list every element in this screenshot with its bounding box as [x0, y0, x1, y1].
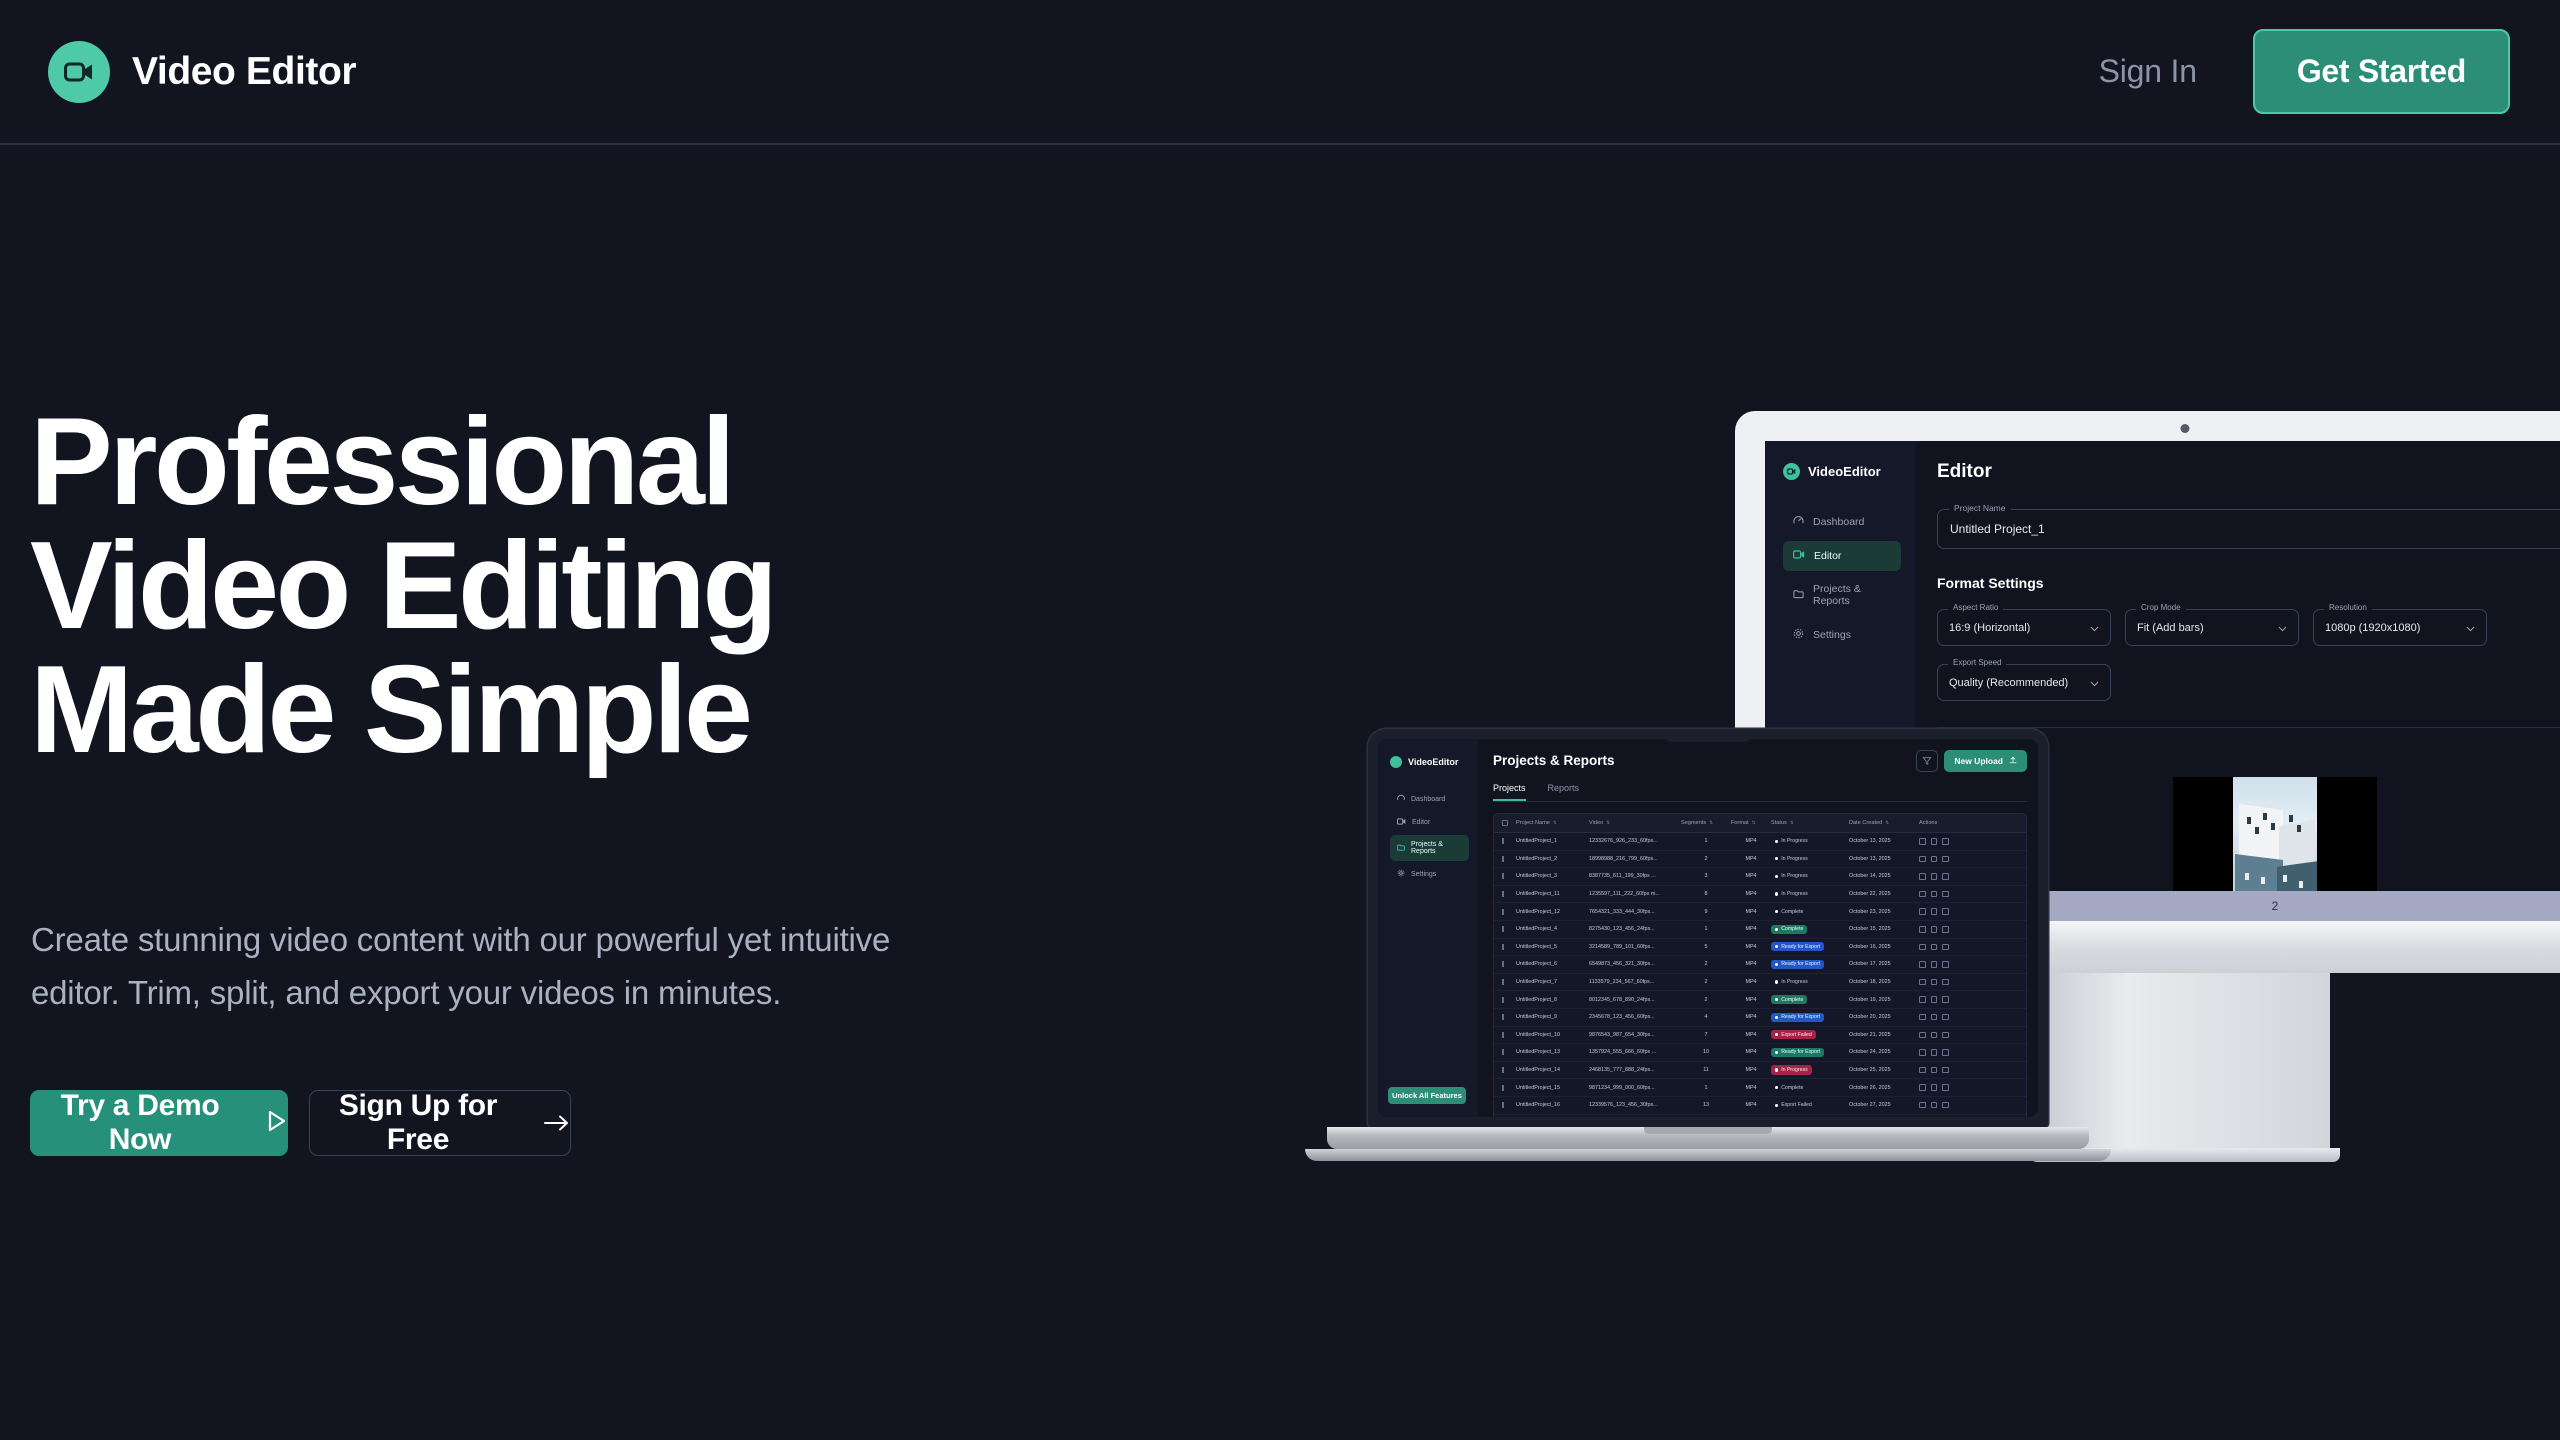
download-icon[interactable] [1931, 1084, 1938, 1091]
row-checkbox[interactable] [1494, 961, 1516, 967]
download-icon[interactable] [1931, 944, 1938, 951]
status-badge: Export Failed [1771, 1101, 1849, 1110]
sidebar-label: Dashboard [1813, 516, 1864, 528]
monitor-brand-label: VideoEditor [1808, 464, 1881, 479]
new-upload-label: New Upload [1954, 756, 2003, 766]
download-icon[interactable] [1931, 908, 1938, 915]
table-row[interactable]: UntitledProject_131357924_555_666_60fps … [1494, 1044, 2026, 1062]
try-demo-label: Try a Demo Now [31, 1089, 249, 1157]
column-segments[interactable]: Segments⇅ [1681, 820, 1731, 826]
sidebar-label: Projects & Reports [1411, 841, 1462, 855]
row-checkbox[interactable] [1494, 1032, 1516, 1038]
row-checkbox[interactable] [1494, 891, 1516, 897]
export-speed-label: Export Speed [1948, 658, 2006, 667]
project-name-label: Project Name [1949, 503, 2011, 513]
delete-icon[interactable] [1942, 891, 1949, 898]
sidebar-item-projects-reports[interactable]: Projects & Reports [1390, 835, 1469, 861]
tab-reports[interactable]: Reports [1548, 783, 1580, 801]
table-row[interactable]: UntitledProject_109876543_987_654_30fps.… [1494, 1027, 2026, 1045]
edit-icon[interactable] [1919, 1102, 1926, 1109]
status-badge: Export Failed [1771, 1030, 1849, 1039]
brand-name: Video Editor [132, 50, 356, 94]
cell-date-created: October 16, 2025 [1849, 944, 1919, 950]
table-row[interactable]: UntitledProject_38387735_611_199_30fps .… [1494, 868, 2026, 886]
laptop-toolbar: New Upload [1916, 750, 2027, 772]
cell-format: MP4 [1731, 1085, 1771, 1091]
download-icon[interactable] [1931, 1049, 1938, 1056]
delete-icon[interactable] [1942, 908, 1949, 915]
laptop-sidebar: VideoEditor Dashboard Editor [1378, 739, 1478, 1117]
cell-video: 18998988_216_799_60fps... [1589, 856, 1681, 862]
export-speed-value: Quality (Recommended) [1949, 677, 2068, 689]
edit-icon[interactable] [1919, 891, 1926, 898]
video-camera-icon [1390, 756, 1402, 768]
sidebar-label: Editor [1814, 550, 1841, 562]
table-row[interactable]: UntitledProject_48275430_123_456_24fps..… [1494, 921, 2026, 939]
cell-format: MP4 [1731, 891, 1771, 897]
cell-project-name: UntitledProject_10 [1516, 1032, 1589, 1038]
gauge-icon [1793, 515, 1804, 529]
cell-video: 9871234_999_000_60fps... [1589, 1085, 1681, 1091]
monitor-nav: Dashboard Editor Projects & Reports [1783, 506, 1915, 651]
cell-segments: 4 [1681, 1014, 1731, 1020]
sidebar-label: Settings [1813, 629, 1851, 641]
row-checkbox[interactable] [1494, 979, 1516, 985]
video-camera-icon [1783, 463, 1800, 480]
edit-icon[interactable] [1919, 873, 1926, 880]
row-checkbox[interactable] [1494, 944, 1516, 950]
row-actions [1919, 1049, 1973, 1056]
table-row[interactable]: UntitledProject_218998988_216_799_60fps.… [1494, 851, 2026, 869]
laptop-brand-label: VideoEditor [1408, 757, 1458, 767]
cell-date-created: October 13, 2025 [1849, 856, 1919, 862]
sort-icon: ⇅ [1790, 820, 1794, 826]
page-title: Professional Video Editing Made Simple [30, 400, 1130, 772]
cell-project-name: UntitledProject_3 [1516, 873, 1589, 879]
cell-project-name: UntitledProject_4 [1516, 926, 1589, 932]
row-actions [1919, 1032, 1973, 1039]
chevron-down-icon [2466, 619, 2475, 637]
column-video[interactable]: Video⇅ [1589, 820, 1681, 826]
cell-video: 2345678_123_456_60fps... [1589, 1014, 1681, 1020]
cell-date-created: October 14, 2025 [1849, 873, 1919, 879]
sidebar-item-editor[interactable]: Editor [1783, 541, 1901, 571]
row-actions [1919, 1067, 1973, 1074]
cell-project-name: UntitledProject_2 [1516, 856, 1589, 862]
cell-segments: 2 [1681, 979, 1731, 985]
folder-icon [1397, 844, 1405, 853]
select-all-checkbox[interactable] [1494, 820, 1516, 826]
laptop-base [1327, 1127, 2089, 1149]
row-checkbox[interactable] [1494, 997, 1516, 1003]
cell-date-created: October 22, 2025 [1849, 891, 1919, 897]
cell-format: MP4 [1731, 1014, 1771, 1020]
aspect-ratio-select[interactable]: Aspect Ratio 16:9 (Horizontal) [1937, 609, 2111, 646]
cell-segments: 9 [1681, 909, 1731, 915]
brand-logo-group[interactable]: Video Editor [48, 41, 356, 103]
cell-date-created: October 13, 2025 [1849, 838, 1919, 844]
cell-date-created: October 27, 2025 [1849, 1102, 1919, 1108]
laptop-lid: VideoEditor Dashboard Editor [1368, 729, 2048, 1127]
status-badge: Ready for Export [1771, 1048, 1849, 1057]
row-actions [1919, 944, 1973, 951]
cell-date-created: October 23, 2025 [1849, 909, 1919, 915]
row-checkbox[interactable] [1494, 1049, 1516, 1055]
export-speed-select[interactable]: Export Speed Quality (Recommended) [1937, 664, 2111, 701]
download-icon[interactable] [1931, 838, 1938, 845]
edit-icon[interactable] [1919, 908, 1926, 915]
cell-format: MP4 [1731, 1032, 1771, 1038]
row-checkbox[interactable] [1494, 856, 1516, 862]
table-row[interactable]: UntitledProject_112332676_926_233_60fps.… [1494, 833, 2026, 851]
cell-format: MP4 [1731, 909, 1771, 915]
sort-icon: ⇅ [1553, 820, 1557, 826]
table-row[interactable]: UntitledProject_1612339576_123_456_30fps… [1494, 1097, 2026, 1115]
sidebar-label: Settings [1411, 871, 1436, 878]
format-settings-row-1: Aspect Ratio 16:9 (Horizontal) Crop Mode… [1937, 609, 2560, 646]
cell-date-created: October 18, 2025 [1849, 979, 1919, 985]
delete-icon[interactable] [1942, 944, 1949, 951]
cell-segments: 13 [1681, 1102, 1731, 1108]
row-checkbox[interactable] [1494, 873, 1516, 879]
gear-icon [1793, 628, 1804, 642]
status-badge: Complete [1771, 1083, 1849, 1092]
sidebar-label: Projects & Reports [1813, 583, 1891, 607]
laptop-foot [1305, 1149, 2111, 1161]
cell-format: MP4 [1731, 856, 1771, 862]
delete-icon[interactable] [1942, 1014, 1949, 1021]
table-row[interactable]: UntitledProject_71133579_234_567_60fps..… [1494, 974, 2026, 992]
edit-icon[interactable] [1919, 1014, 1926, 1021]
cell-segments: 2 [1681, 997, 1731, 1003]
row-actions [1919, 961, 1973, 968]
cell-project-name: UntitledProject_13 [1516, 1049, 1589, 1055]
cell-date-created: October 21, 2025 [1849, 1032, 1919, 1038]
sidebar-label: Editor [1412, 819, 1430, 826]
cell-project-name: UntitledProject_11 [1516, 891, 1589, 897]
column-project-name[interactable]: Project Name⇅ [1516, 820, 1589, 826]
table-row[interactable]: UntitledProject_92345678_123_456_60fps..… [1494, 1009, 2026, 1027]
cell-segments: 5 [1681, 944, 1731, 950]
row-actions [1919, 873, 1973, 880]
status-badge: In Progress [1771, 1065, 1849, 1074]
download-icon[interactable] [1931, 873, 1938, 880]
delete-icon[interactable] [1942, 926, 1949, 933]
funnel-icon[interactable] [1916, 750, 1938, 772]
sign-up-free-label: Sign Up for Free [310, 1089, 526, 1157]
cell-video: 1357924_555_666_60fps ... [1589, 1049, 1681, 1055]
sort-icon: ⇅ [1709, 820, 1713, 826]
video-player-preview[interactable] [2173, 777, 2377, 897]
download-icon[interactable] [1931, 1102, 1938, 1109]
table-row[interactable]: UntitledProject_53214589_789_101_60fps..… [1494, 939, 2026, 957]
table-row[interactable]: UntitledProject_127654321_333_444_30fps.… [1494, 903, 2026, 921]
status-badge: Complete [1771, 995, 1849, 1004]
row-checkbox[interactable] [1494, 926, 1516, 932]
delete-icon[interactable] [1942, 856, 1949, 863]
sort-icon: ⇅ [1752, 820, 1756, 826]
crop-mode-label: Crop Mode [2136, 603, 2186, 612]
row-checkbox[interactable] [1494, 1014, 1516, 1020]
cell-format: MP4 [1731, 1067, 1771, 1073]
download-icon[interactable] [1931, 926, 1938, 933]
row-actions [1919, 1084, 1973, 1091]
sort-icon: ⇅ [1606, 820, 1610, 826]
delete-icon[interactable] [1942, 1084, 1949, 1091]
cell-project-name: UntitledProject_6 [1516, 961, 1589, 967]
table-body: UntitledProject_112332676_926_233_60fps.… [1494, 833, 2026, 1117]
cell-video: 8012345_678_890_24fps... [1589, 997, 1681, 1003]
row-actions [1919, 1014, 1973, 1021]
cell-segments: 7 [1681, 1032, 1731, 1038]
cell-video: 7654321_333_444_30fps... [1589, 909, 1681, 915]
cell-project-name: UntitledProject_7 [1516, 979, 1589, 985]
status-badge: In Progress [1771, 854, 1849, 863]
delete-icon[interactable] [1942, 838, 1949, 845]
cell-segments: 1 [1681, 838, 1731, 844]
delete-icon[interactable] [1942, 979, 1949, 986]
laptop-tabs: Projects Reports [1493, 783, 2027, 802]
edit-icon[interactable] [1919, 979, 1926, 986]
status-badge: Ready for Export [1771, 1013, 1849, 1022]
resolution-label: Resolution [2324, 603, 2372, 612]
table-row[interactable]: UntitledProject_142468135_777_888_24fps.… [1494, 1062, 2026, 1080]
cell-date-created: October 15, 2025 [1849, 926, 1919, 932]
column-date-created[interactable]: Date Created⇅ [1849, 820, 1919, 826]
edit-icon[interactable] [1919, 944, 1926, 951]
edit-icon[interactable] [1919, 1049, 1926, 1056]
laptop-app-brand: VideoEditor [1390, 756, 1478, 768]
webcam-icon [2181, 424, 2190, 433]
row-checkbox[interactable] [1494, 1067, 1516, 1073]
laptop-nav: Dashboard Editor Projects & Reports [1390, 788, 1478, 885]
table-row[interactable]: UntitledProject_174567890_654_321_60fps.… [1494, 1115, 2026, 1118]
hero-cta-group: Try a Demo Now Sign Up for Free [30, 1090, 571, 1156]
row-actions [1919, 926, 1973, 933]
table-header-row: Project Name⇅ Video⇅ Segments⇅ Format⇅ S… [1494, 814, 2026, 833]
cell-date-created: October 26, 2025 [1849, 1085, 1919, 1091]
column-format[interactable]: Format⇅ [1731, 820, 1771, 826]
video-camera-icon [48, 41, 110, 103]
row-checkbox[interactable] [1494, 909, 1516, 915]
cell-project-name: UntitledProject_8 [1516, 997, 1589, 1003]
cell-format: MP4 [1731, 997, 1771, 1003]
table-row[interactable]: UntitledProject_66549873_456_321_30fps..… [1494, 956, 2026, 974]
download-icon[interactable] [1931, 1032, 1938, 1039]
cell-segments: 2 [1681, 856, 1731, 862]
sidebar-item-settings[interactable]: Settings [1783, 619, 1901, 651]
cell-video: 6549873_456_321_30fps... [1589, 961, 1681, 967]
row-actions [1919, 996, 1973, 1003]
delete-icon[interactable] [1942, 1067, 1949, 1074]
cell-project-name: UntitledProject_1 [1516, 838, 1589, 844]
format-settings-row-2: Export Speed Quality (Recommended) [1937, 664, 2560, 701]
cell-date-created: October 25, 2025 [1849, 1067, 1919, 1073]
tab-projects[interactable]: Projects [1493, 783, 1526, 801]
chevron-down-icon [2090, 619, 2099, 637]
cell-video: 1235597_111_222_60fps m... [1589, 891, 1681, 897]
cell-date-created: October 24, 2025 [1849, 1049, 1919, 1055]
crop-mode-select[interactable]: Crop Mode Fit (Add bars) [2125, 609, 2299, 646]
sidebar-label: Dashboard [1411, 796, 1445, 803]
row-actions [1919, 856, 1973, 863]
row-actions [1919, 908, 1973, 915]
cell-segments: 3 [1681, 873, 1731, 879]
cell-segments: 10 [1681, 1049, 1731, 1055]
cell-format: MP4 [1731, 838, 1771, 844]
monitor-stand-neck [2040, 973, 2330, 1148]
table-row[interactable]: UntitledProject_159871234_999_000_60fps.… [1494, 1079, 2026, 1097]
sidebar-item-dashboard[interactable]: Dashboard [1783, 506, 1901, 538]
section-divider [1937, 727, 2560, 728]
download-icon[interactable] [1931, 856, 1938, 863]
sign-in-link[interactable]: Sign In [2099, 53, 2197, 90]
sidebar-item-editor[interactable]: Editor [1390, 812, 1469, 833]
cell-segments: 11 [1681, 1067, 1731, 1073]
laptop-mockup: VideoEditor Dashboard Editor [1368, 729, 2048, 1161]
download-icon[interactable] [1931, 891, 1938, 898]
status-badge: Ready for Export [1771, 960, 1849, 969]
laptop-screen: VideoEditor Dashboard Editor [1378, 739, 2038, 1117]
edit-icon[interactable] [1919, 926, 1926, 933]
hero-subtitle: Create stunning video content with our p… [31, 913, 1131, 1020]
status-badge: In Progress [1771, 872, 1849, 881]
download-icon[interactable] [1931, 1067, 1938, 1074]
edit-icon[interactable] [1919, 1032, 1926, 1039]
cell-video: 9876543_987_654_30fps... [1589, 1032, 1681, 1038]
edit-icon[interactable] [1919, 996, 1926, 1003]
download-icon[interactable] [1931, 979, 1938, 986]
project-name-field[interactable]: Project Name Untitled Project_1 [1937, 509, 2560, 549]
cell-project-name: UntitledProject_15 [1516, 1085, 1589, 1091]
sidebar-item-projects-reports[interactable]: Projects & Reports [1783, 574, 1901, 616]
row-actions [1919, 1102, 1973, 1109]
cell-format: MP4 [1731, 873, 1771, 879]
cell-format: MP4 [1731, 944, 1771, 950]
download-icon[interactable] [1931, 996, 1938, 1003]
row-checkbox[interactable] [1494, 1085, 1516, 1091]
play-triangle-icon [267, 1106, 287, 1140]
cell-date-created: October 19, 2025 [1849, 997, 1919, 1003]
resolution-value: 1080p (1920x1080) [2325, 622, 2420, 634]
sidebar-item-settings[interactable]: Settings [1390, 863, 1469, 885]
download-icon[interactable] [1931, 1014, 1938, 1021]
cell-date-created: October 17, 2025 [1849, 961, 1919, 967]
folder-icon [1793, 589, 1804, 602]
cell-project-name: UntitledProject_14 [1516, 1067, 1589, 1073]
cell-project-name: UntitledProject_16 [1516, 1102, 1589, 1108]
delete-icon[interactable] [1942, 1102, 1949, 1109]
cell-format: MP4 [1731, 979, 1771, 985]
monitor-app-brand: VideoEditor [1783, 463, 1915, 480]
cell-segments: 1 [1681, 1085, 1731, 1091]
preview-frame-image [2233, 777, 2317, 897]
sort-icon: ⇅ [1885, 820, 1889, 826]
chevron-down-icon [2090, 674, 2099, 692]
row-actions [1919, 891, 1973, 898]
cell-video: 12332676_926_233_60fps... [1589, 838, 1681, 844]
edit-icon[interactable] [1919, 1084, 1926, 1091]
cell-video: 2468135_777_888_24fps... [1589, 1067, 1681, 1073]
projects-table: Project Name⇅ Video⇅ Segments⇅ Format⇅ S… [1493, 813, 2027, 1117]
video-camera-icon [1397, 818, 1406, 827]
laptop-main: Projects & Reports New Upload Projects R… [1478, 739, 2038, 1117]
cell-video: 8275430_123_456_24fps... [1589, 926, 1681, 932]
aspect-ratio-value: 16:9 (Horizontal) [1949, 622, 2030, 634]
status-badge: In Progress [1771, 889, 1849, 898]
cell-segments: 8 [1681, 891, 1731, 897]
cell-video: 8387735_611_199_30fps ... [1589, 873, 1681, 879]
status-badge: In Progress [1771, 977, 1849, 986]
status-badge: Complete [1771, 925, 1849, 934]
unlock-all-features-button[interactable]: Unlock All Features [1388, 1087, 1466, 1104]
gauge-icon [1397, 794, 1405, 804]
status-badge: Complete [1771, 907, 1849, 916]
table-row[interactable]: UntitledProject_111235597_111_222_60fps … [1494, 886, 2026, 904]
status-badge: In Progress [1771, 837, 1849, 846]
cell-video: 1133579_234_567_60fps... [1589, 979, 1681, 985]
row-actions [1919, 838, 1973, 845]
cell-project-name: UntitledProject_9 [1516, 1014, 1589, 1020]
try-demo-button[interactable]: Try a Demo Now [30, 1090, 288, 1156]
cell-video: 3214589_789_101_60fps... [1589, 944, 1681, 950]
site-header: Video Editor Sign In Get Started [0, 0, 2560, 145]
edit-icon[interactable] [1919, 856, 1926, 863]
cell-project-name: UntitledProject_5 [1516, 944, 1589, 950]
row-actions [1919, 979, 1973, 986]
table-row[interactable]: UntitledProject_88012345_678_890_24fps..… [1494, 991, 2026, 1009]
sidebar-item-dashboard[interactable]: Dashboard [1390, 788, 1469, 810]
laptop-notch [1665, 730, 1751, 742]
delete-icon[interactable] [1942, 873, 1949, 880]
edit-icon[interactable] [1919, 838, 1926, 845]
header-actions: Sign In Get Started [2099, 29, 2510, 114]
sign-up-free-button[interactable]: Sign Up for Free [309, 1090, 571, 1156]
cell-format: MP4 [1731, 1049, 1771, 1055]
cell-video: 12339576_123_456_30fps... [1589, 1102, 1681, 1108]
row-checkbox[interactable] [1494, 1102, 1516, 1108]
cell-date-created: October 20, 2025 [1849, 1014, 1919, 1020]
delete-icon[interactable] [1942, 1049, 1949, 1056]
delete-icon[interactable] [1942, 996, 1949, 1003]
row-checkbox[interactable] [1494, 838, 1516, 844]
project-name-value: Untitled Project_1 [1950, 522, 2045, 536]
download-icon[interactable] [1931, 961, 1938, 968]
new-upload-button[interactable]: New Upload [1944, 750, 2027, 772]
crop-mode-value: Fit (Add bars) [2137, 622, 2204, 634]
format-settings-heading: Format Settings [1937, 575, 2560, 591]
cell-format: MP4 [1731, 961, 1771, 967]
video-camera-icon [1793, 550, 1805, 562]
gear-icon [1397, 869, 1405, 879]
cell-format: MP4 [1731, 1102, 1771, 1108]
cell-segments: 1 [1681, 926, 1731, 932]
column-status[interactable]: Status⇅ [1771, 820, 1849, 826]
delete-icon[interactable] [1942, 1032, 1949, 1039]
cell-segments: 2 [1681, 961, 1731, 967]
arrow-right-icon [544, 1106, 570, 1140]
delete-icon[interactable] [1942, 961, 1949, 968]
edit-icon[interactable] [1919, 961, 1926, 968]
upload-icon [2009, 756, 2017, 766]
get-started-button[interactable]: Get Started [2253, 29, 2510, 114]
column-actions: Actions [1919, 820, 1973, 826]
resolution-select[interactable]: Resolution 1080p (1920x1080) [2313, 609, 2487, 646]
aspect-ratio-label: Aspect Ratio [1948, 603, 2003, 612]
status-badge: Ready for Export [1771, 942, 1849, 951]
monitor-page-title: Editor [1937, 461, 2560, 483]
edit-icon[interactable] [1919, 1067, 1926, 1074]
